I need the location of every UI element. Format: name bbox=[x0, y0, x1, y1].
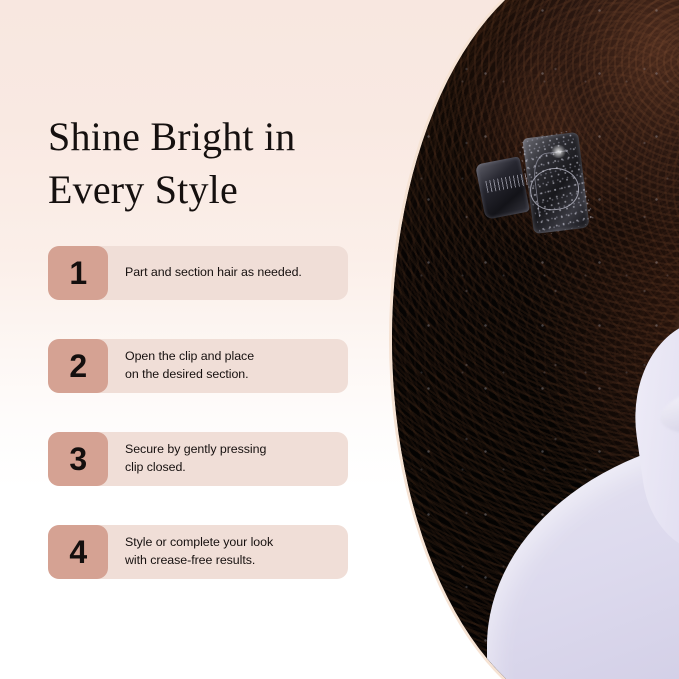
page-title: Shine Bright in Every Style bbox=[48, 110, 378, 216]
list-item: 4 Style or complete your look with creas… bbox=[48, 525, 348, 579]
step-number-badge: 4 bbox=[48, 525, 108, 579]
step-text-line-1: Open the clip and place bbox=[125, 348, 340, 366]
step-text-line-1: Part and section hair as needed. bbox=[125, 264, 340, 282]
steps-list: 1 Part and section hair as needed. 2 Ope… bbox=[48, 246, 348, 579]
photo-inner bbox=[392, 0, 679, 679]
list-item: 1 Part and section hair as needed. bbox=[48, 246, 348, 300]
headline-line-2: Every Style bbox=[48, 163, 378, 216]
step-text-line-2: with crease-free results. bbox=[125, 552, 340, 570]
step-number-badge: 2 bbox=[48, 339, 108, 393]
step-text-line-1: Secure by gently pressing bbox=[125, 441, 340, 459]
step-text-line-2: clip closed. bbox=[125, 459, 340, 477]
list-item: 2 Open the clip and place on the desired… bbox=[48, 339, 348, 393]
step-text: Style or complete your look with crease-… bbox=[125, 525, 340, 579]
step-text: Secure by gently pressing clip closed. bbox=[125, 432, 340, 486]
clip-arc-highlight-secondary bbox=[531, 150, 576, 217]
promo-graphic: Shine Bright in Every Style 1 Part and s… bbox=[0, 0, 679, 679]
list-item: 3 Secure by gently pressing clip closed. bbox=[48, 432, 348, 486]
product-photo bbox=[392, 0, 679, 679]
step-text-line-2: on the desired section. bbox=[125, 366, 340, 384]
step-number-badge: 3 bbox=[48, 432, 108, 486]
step-text: Part and section hair as needed. bbox=[125, 246, 340, 300]
step-text-line-1: Style or complete your look bbox=[125, 534, 340, 552]
hair-clip bbox=[480, 135, 583, 231]
headline-line-1: Shine Bright in bbox=[48, 110, 378, 163]
step-number-badge: 1 bbox=[48, 246, 108, 300]
clip-glint bbox=[550, 145, 567, 158]
step-text: Open the clip and place on the desired s… bbox=[125, 339, 340, 393]
